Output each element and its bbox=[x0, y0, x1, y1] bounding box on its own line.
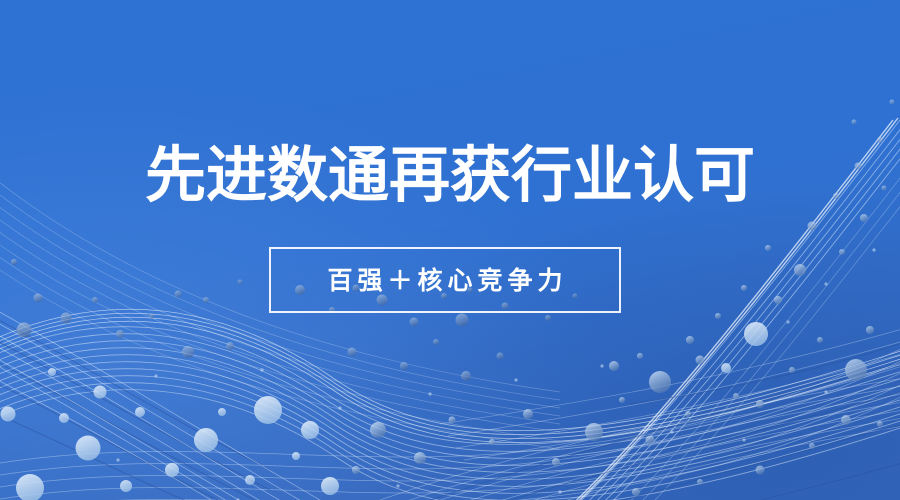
promo-banner: 先进数通再获行业认可 百强＋核心竞争力 bbox=[0, 0, 900, 500]
subtitle-badge: 百强＋核心竞争力 bbox=[269, 247, 621, 313]
page-title: 先进数通再获行业认可 bbox=[0, 139, 900, 213]
banner-content: 先进数通再获行业认可 百强＋核心竞争力 bbox=[0, 0, 900, 500]
subtitle-text: 百强＋核心竞争力 bbox=[322, 268, 567, 293]
